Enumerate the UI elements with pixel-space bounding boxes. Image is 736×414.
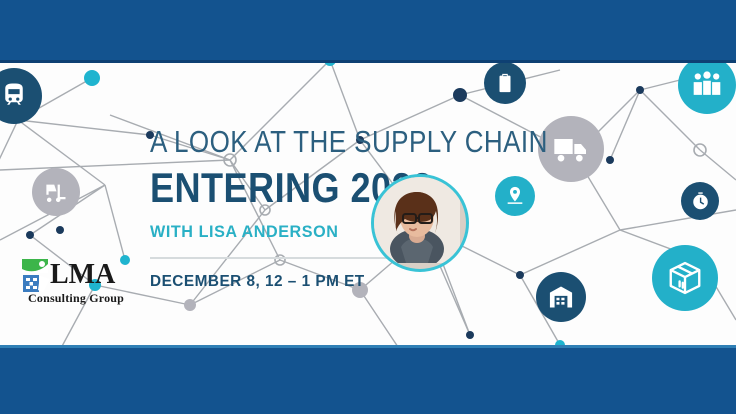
package-box-icon — [652, 245, 718, 311]
divider-rule — [150, 257, 388, 259]
avatar — [371, 174, 469, 272]
location-pin-icon — [495, 176, 535, 216]
truck-icon — [538, 116, 604, 182]
headline-top-line: A LOOK AT THE SUPPLY CHAIN — [150, 125, 394, 159]
webinar-promo-banner: A LOOK AT THE SUPPLY CHAIN ENTERING 2022… — [0, 0, 736, 414]
headline-main-line: ENTERING 2022 — [150, 165, 399, 211]
event-datetime: DECEMBER 8, 12 – 1 PM ET — [150, 273, 428, 291]
clipboard-icon — [484, 62, 526, 104]
stopwatch-icon — [681, 182, 719, 220]
people-group-icon — [678, 56, 736, 114]
top-navy-bar — [0, 0, 736, 60]
top-bar-edge — [0, 60, 736, 63]
bottom-navy-bar — [0, 348, 736, 414]
logo-wordmark: LMA — [50, 260, 115, 290]
bottom-bar-edge — [0, 345, 736, 348]
forklift-icon — [32, 168, 80, 216]
lma-consulting-group-logo: LMA Consulting Group — [20, 258, 140, 310]
logo-tagline: Consulting Group — [28, 291, 124, 306]
warehouse-icon — [536, 272, 586, 322]
